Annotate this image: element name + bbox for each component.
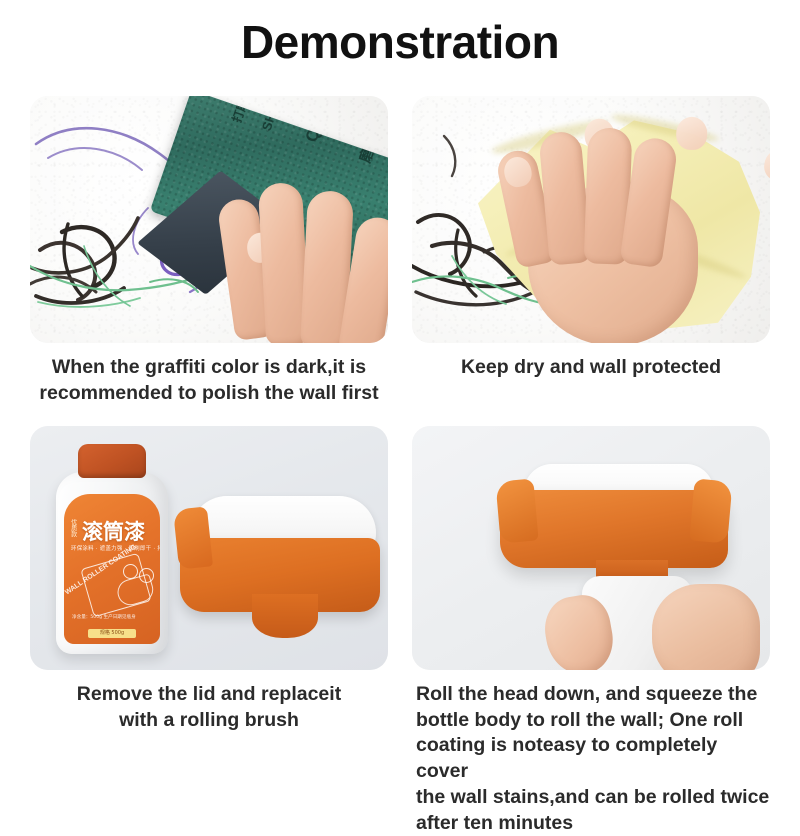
palm bbox=[652, 584, 760, 670]
roller-arm-right bbox=[689, 478, 732, 543]
roller-neck-connector bbox=[252, 594, 318, 638]
label-main-text: 滚筒漆 bbox=[82, 516, 145, 546]
paint-bottle: 优质款 滚筒漆 环保涂料 · 遮盖力强 · 即刷即干 · 持久耐用 WALL R… bbox=[56, 444, 168, 654]
demonstration-grid: QETAOCM SHIS 磨砂块 打磨 细目 When the graffiti… bbox=[0, 96, 800, 800]
fingernail bbox=[501, 154, 534, 189]
label-badge-text: 优质款 bbox=[69, 519, 76, 537]
label-footnote-text: 净含量：500g 生产日期见瓶身 bbox=[72, 615, 136, 622]
bottle-label: 优质款 滚筒漆 环保涂料 · 遮盖力强 · 即刷即干 · 持久耐用 WALL R… bbox=[64, 494, 160, 644]
step-caption-1: When the graffiti color is dark,it is re… bbox=[30, 355, 388, 406]
hand-wiping-wall bbox=[504, 124, 714, 343]
step-card-2: Keep dry and wall protected bbox=[412, 96, 770, 381]
photo-sanding-block-on-graffiti-wall: QETAOCM SHIS 磨砂块 打磨 细目 bbox=[30, 96, 388, 343]
roller-brush-head bbox=[180, 496, 380, 656]
label-illustration bbox=[80, 553, 151, 618]
roller-frame bbox=[500, 490, 728, 568]
step-caption-2: Keep dry and wall protected bbox=[412, 355, 770, 381]
hand-squeezing-bottle bbox=[540, 578, 760, 670]
bottle-cap bbox=[78, 444, 146, 478]
label-icon-badge bbox=[123, 564, 138, 579]
label-spec-text: 规格 500g bbox=[88, 629, 136, 638]
step-card-4: Roll the head down, and squeeze the bott… bbox=[412, 426, 770, 836]
step-caption-4: Roll the head down, and squeeze the bott… bbox=[412, 682, 770, 836]
step-card-3: 优质款 滚筒漆 环保涂料 · 遮盖力强 · 即刷即干 · 持久耐用 WALL R… bbox=[30, 426, 388, 733]
photo-paint-bottle-and-roller-head: 优质款 滚筒漆 环保涂料 · 遮盖力强 · 即刷即干 · 持久耐用 WALL R… bbox=[30, 426, 388, 670]
step-caption-3: Remove the lid and replaceit with a roll… bbox=[30, 682, 388, 733]
thumb bbox=[540, 591, 619, 670]
roller-arm-left bbox=[173, 506, 213, 569]
hand-holding-sanding-block bbox=[208, 169, 388, 343]
roller-arm-left bbox=[495, 478, 538, 543]
label-sub-text: 环保涂料 · 遮盖力强 · 即刷即干 · 持久耐用 bbox=[71, 544, 160, 552]
fingernail bbox=[676, 116, 708, 150]
label-icon-badge bbox=[139, 568, 154, 583]
page-title: Demonstration bbox=[0, 0, 800, 76]
photo-wiping-wall-with-cloth bbox=[412, 96, 770, 343]
step-card-1: QETAOCM SHIS 磨砂块 打磨 细目 When the graffiti… bbox=[30, 96, 388, 406]
photo-rolling-paint-onto-wall bbox=[412, 426, 770, 670]
